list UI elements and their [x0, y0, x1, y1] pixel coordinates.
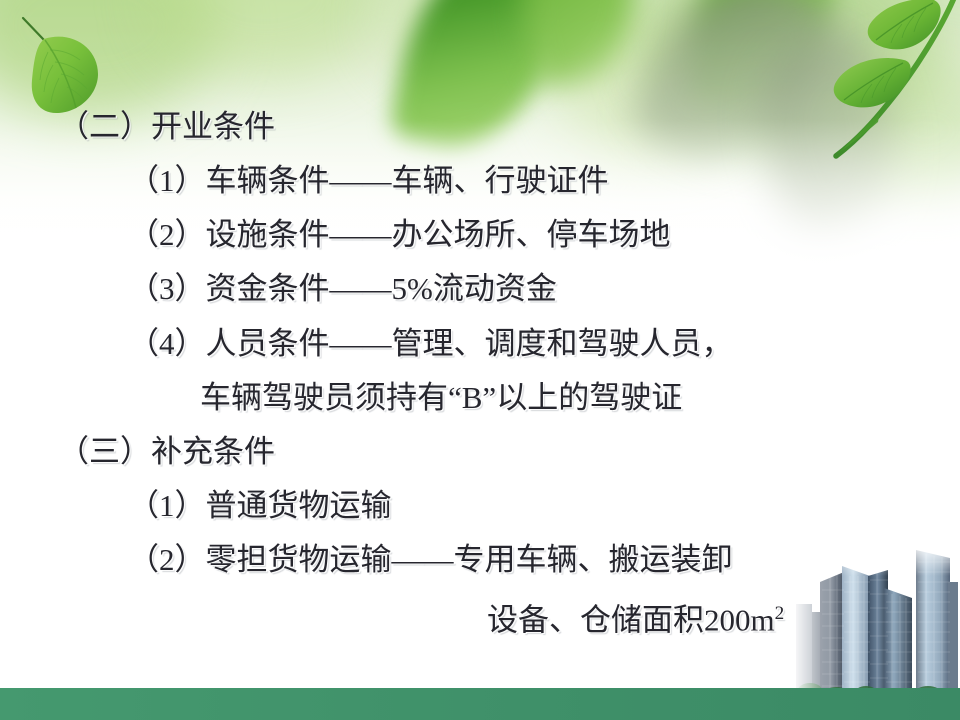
section-heading-2: （二）开业条件 — [58, 110, 275, 144]
bullet-item-capital: （3）资金条件——5%流动资金 — [128, 272, 557, 306]
bullet-item-facility: （2）设施条件——办公场所、停车场地 — [128, 218, 671, 252]
city-skyline-image — [792, 542, 960, 700]
bullet-item-general-cargo: （1）普通货物运输 — [128, 489, 392, 523]
leaf-icon-top-left — [14, 12, 124, 122]
footer-bar — [0, 688, 960, 720]
storage-area-text: 设备、仓储面积200m — [487, 602, 775, 637]
branch-with-leaves-icon-top-right — [830, 0, 960, 161]
bullet-item-personnel-cont: 车辆驾驶员须持有“B”以上的驾驶证 — [200, 381, 682, 415]
bullet-item-ltl-cargo: （2）零担货物运输——专用车辆、搬运装卸 — [128, 543, 733, 577]
superscript-two: 2 — [775, 603, 785, 624]
background-fade-overlay — [0, 0, 960, 300]
bullet-item-personnel: （4）人员条件——管理、调度和驾驶人员， — [128, 327, 733, 361]
bullet-item-ltl-cargo-cont: 设备、仓储面积200m2 — [487, 597, 784, 637]
bullet-item-vehicle: （1）车辆条件——车辆、行驶证件 — [128, 164, 609, 198]
section-heading-3: （三）补充条件 — [58, 435, 275, 469]
presentation-slide: （二）开业条件 （1）车辆条件——车辆、行驶证件 （2）设施条件——办公场所、停… — [0, 0, 960, 720]
